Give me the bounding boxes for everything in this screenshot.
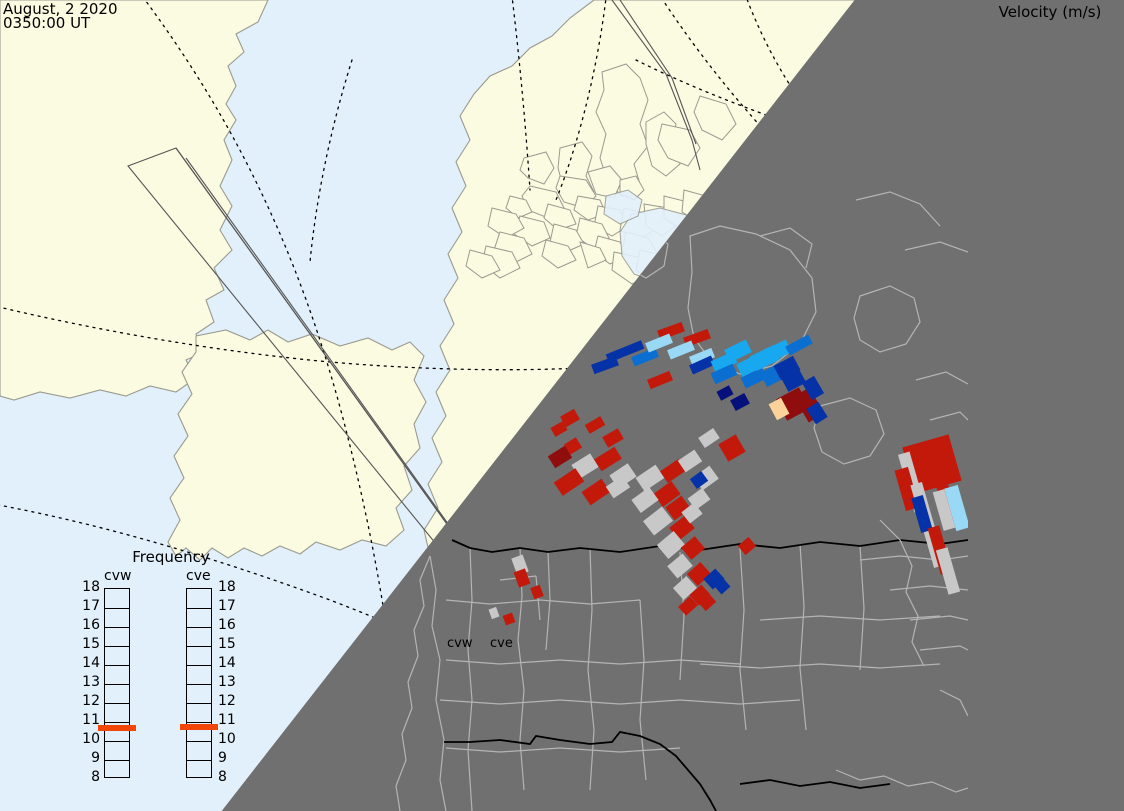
velocity-legend-title: Velocity (m/s) [976,3,1124,21]
frequency-tick [187,646,211,647]
frequency-scale-label-cve: 15 [218,636,236,652]
frequency-tick [105,646,129,647]
frequency-bar-cve[interactable] [186,588,212,778]
frequency-tick [105,760,129,761]
map-canvas[interactable]: cvw cve August, 2 2020 0350:00 UT Freque… [0,0,968,811]
frequency-scale-label-cvw: 16 [68,617,100,633]
frequency-scale-label-cvw: 10 [68,731,100,747]
frequency-scale-label-cve: 13 [218,674,236,690]
frequency-scale-label-cvw: 14 [68,655,100,671]
frequency-tick [187,608,211,609]
frequency-tick [105,722,129,723]
frequency-scale-label-cve: 8 [218,769,227,785]
frequency-scale-label-cve: 18 [218,579,236,595]
map-site-label-cve: cve [490,636,513,651]
frequency-scale-label-cvw: 8 [68,769,100,785]
time-label: 0350:00 UT [3,16,90,31]
frequency-scale-label-cve: 14 [218,655,236,671]
frequency-marker-cve [180,724,218,730]
frequency-scale-label-cve: 12 [218,693,236,709]
frequency-tick [105,665,129,666]
frequency-tick [187,665,211,666]
frequency-scale-label-cve: 16 [218,617,236,633]
velocity-legend: Velocity (m/s) 5004003002001000-100-200-… [968,0,1124,811]
frequency-scale-label-cvw: 9 [68,750,100,766]
frequency-scale-label-cvw: 13 [68,674,100,690]
frequency-scale-label-cvw: 11 [68,712,100,728]
frequency-tick [105,703,129,704]
frequency-scale-label-cvw: 15 [68,636,100,652]
frequency-column-name-cve: cve [186,568,211,584]
frequency-tick [105,741,129,742]
frequency-tick [187,703,211,704]
frequency-legend: Frequency cvw cve 1818171716161515141413… [86,548,256,788]
frequency-scale-label-cvw: 18 [68,579,100,595]
frequency-tick [105,684,129,685]
frequency-scale-label-cve: 10 [218,731,236,747]
map-site-label-cvw: cvw [447,636,472,651]
frequency-column-name-cvw: cvw [104,568,131,584]
frequency-tick [187,684,211,685]
frequency-scale-label-cve: 9 [218,750,227,766]
frequency-tick [105,627,129,628]
frequency-scale-label-cve: 11 [218,712,236,728]
frequency-scale-label-cvw: 17 [68,598,100,614]
frequency-tick [187,627,211,628]
frequency-scale-label-cve: 17 [218,598,236,614]
frequency-marker-cvw [98,725,136,731]
frequency-scale-label-cvw: 12 [68,693,100,709]
frequency-bar-cvw[interactable] [104,588,130,778]
radar-map-figure: cvw cve August, 2 2020 0350:00 UT Freque… [0,0,1124,811]
frequency-tick [105,608,129,609]
frequency-tick [187,760,211,761]
frequency-legend-title: Frequency [86,548,256,566]
frequency-tick [187,741,211,742]
